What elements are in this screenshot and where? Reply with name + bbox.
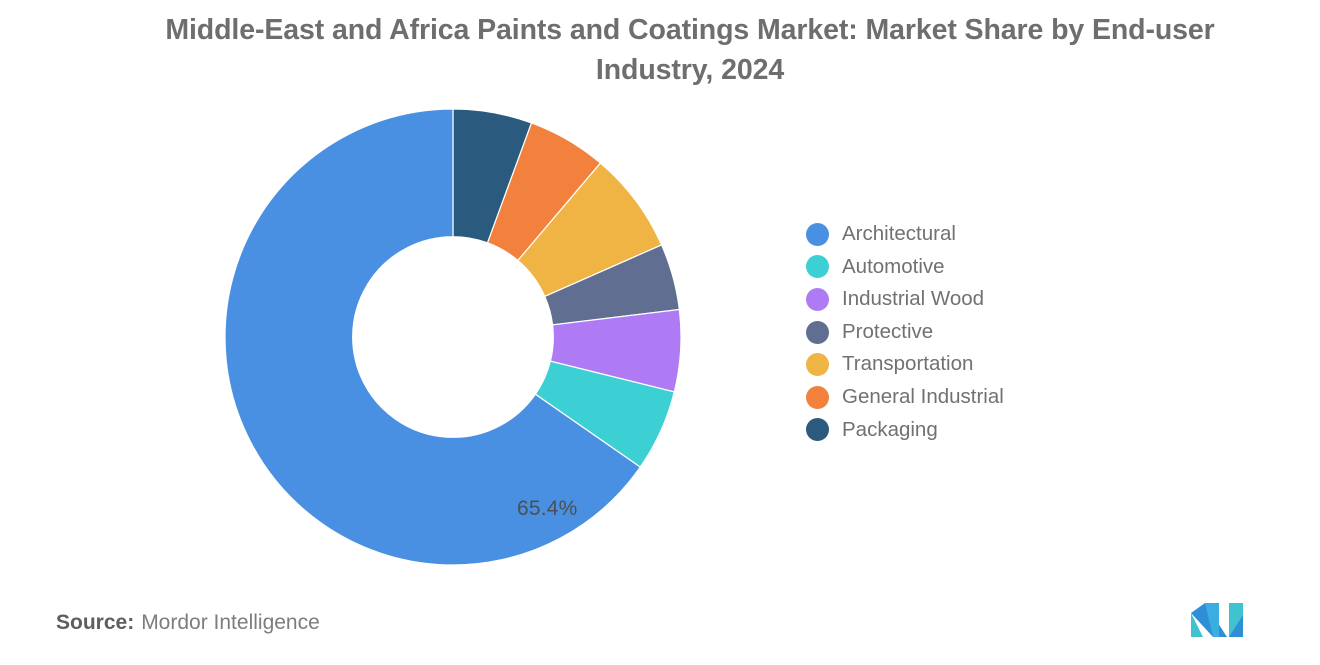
legend-swatch-icon [806,255,829,278]
legend-item[interactable]: Protective [806,316,1136,349]
legend-item[interactable]: General Industrial [806,381,1136,414]
legend-item[interactable]: Architectural [806,218,1136,251]
legend-swatch-icon [806,288,829,311]
legend-item-label: Transportation [842,354,973,375]
donut-svg [225,109,681,565]
legend-item-label: Packaging [842,420,938,441]
source-line: Source:Mordor Intelligence [56,611,320,635]
legend-swatch-icon [806,353,829,376]
slice-value-label-architectural: 65.4% [517,497,578,521]
mordor-intelligence-logo-icon [1185,597,1253,643]
legend-item[interactable]: Packaging [806,414,1136,447]
source-value: Mordor Intelligence [141,611,320,634]
source-label: Source: [56,611,134,634]
legend-item[interactable]: Transportation [806,348,1136,381]
chart-legend: ArchitecturalAutomotiveIndustrial WoodPr… [806,218,1136,446]
donut-chart: 65.4% [225,109,681,565]
donut-slice-group [225,109,681,565]
legend-item[interactable]: Industrial Wood [806,283,1136,316]
legend-swatch-icon [806,386,829,409]
legend-swatch-icon [806,223,829,246]
legend-item-label: General Industrial [842,387,1004,408]
legend-item-label: Automotive [842,257,945,278]
chart-title: Middle-East and Africa Paints and Coatin… [140,10,1240,91]
legend-item-label: Industrial Wood [842,289,984,310]
legend-swatch-icon [806,321,829,344]
chart-page: Middle-East and Africa Paints and Coatin… [0,0,1320,665]
legend-item[interactable]: Automotive [806,251,1136,284]
logo-svg [1185,597,1253,643]
legend-item-label: Protective [842,322,933,343]
legend-swatch-icon [806,418,829,441]
legend-item-label: Architectural [842,224,956,245]
